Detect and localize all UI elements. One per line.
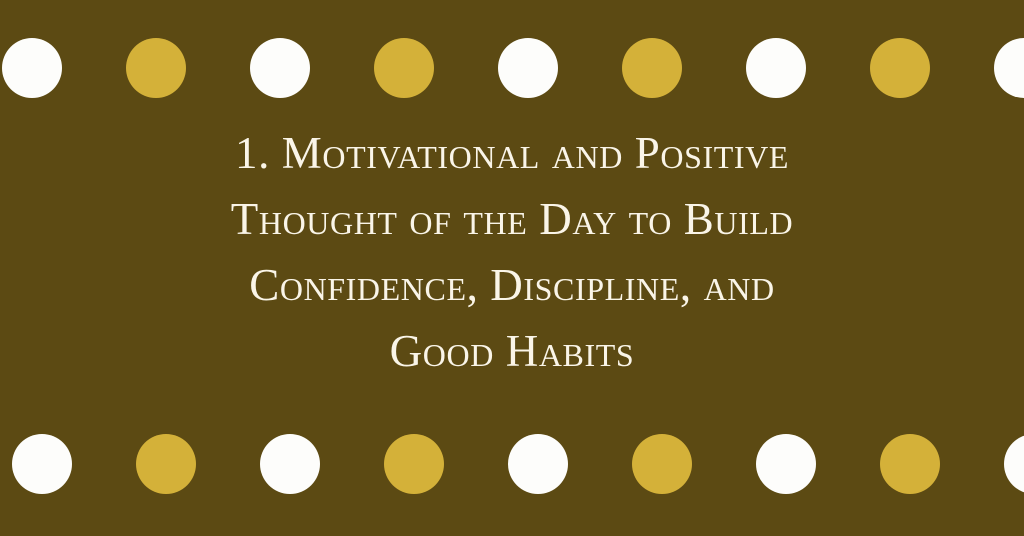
decorative-dot-gold	[126, 38, 186, 98]
promo-banner: 1. Motivational and Positive Thought of …	[0, 0, 1024, 536]
bottom-dot-row	[0, 434, 1024, 496]
top-dot-row	[0, 38, 1024, 100]
decorative-dot-gold	[622, 38, 682, 98]
decorative-dot-gold	[632, 434, 692, 494]
title-line-1: 1. Motivational and Positive	[28, 120, 996, 186]
decorative-dot-gold	[374, 38, 434, 98]
title-line-3: Confidence, Discipline, and	[28, 252, 996, 318]
decorative-dot-white	[1004, 434, 1024, 494]
decorative-dot-gold	[136, 434, 196, 494]
title-line-4: Good Habits	[28, 318, 996, 384]
title-line-2: Thought of the Day to Build	[28, 186, 996, 252]
banner-title-block: 1. Motivational and Positive Thought of …	[0, 112, 1024, 392]
decorative-dot-gold	[384, 434, 444, 494]
decorative-dot-white	[994, 38, 1024, 98]
decorative-dot-white	[250, 38, 310, 98]
decorative-dot-white	[12, 434, 72, 494]
decorative-dot-white	[746, 38, 806, 98]
decorative-dot-white	[498, 38, 558, 98]
decorative-dot-white	[260, 434, 320, 494]
decorative-dot-gold	[870, 38, 930, 98]
decorative-dot-white	[756, 434, 816, 494]
decorative-dot-white	[508, 434, 568, 494]
decorative-dot-gold	[880, 434, 940, 494]
decorative-dot-white	[2, 38, 62, 98]
